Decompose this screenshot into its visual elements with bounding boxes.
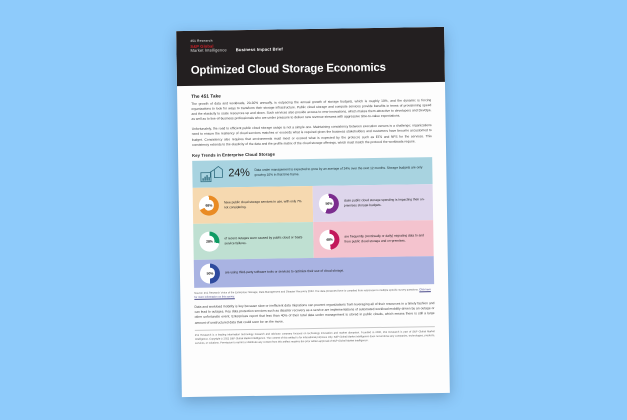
- document-body: The 451 Take The growth of data and work…: [177, 82, 449, 347]
- infographic-row-2: 28% of recent outages were caused by pub…: [193, 220, 434, 260]
- page-title: Optimized Cloud Storage Economics: [191, 61, 431, 77]
- donut-value-50: 50%: [207, 271, 214, 275]
- donut-chart-68: 68%: [199, 195, 219, 215]
- banner-stat-value: 24%: [228, 167, 249, 179]
- infographic: 24% Data under management is expected to…: [192, 157, 434, 288]
- section-heading-key-trends: Key Trends in Enterprise Cloud Storage: [192, 149, 432, 158]
- donut-chart-50: 50%: [200, 263, 220, 283]
- stat-card-public-cloud-in-use: 68% have public cloud storage services i…: [193, 186, 314, 224]
- paragraph-take-2: Unfortunately, the road to efficient pub…: [192, 123, 432, 148]
- stat-text-28: of recent outages were caused by public …: [224, 235, 307, 246]
- stat-card-migration-frequency: 48% are frequently (continually or daily…: [313, 220, 434, 258]
- infographic-row-1: 68% have public cloud storage services i…: [193, 184, 434, 224]
- source-note-text: Source: 451 Research Voice of the Enterp…: [194, 288, 418, 295]
- infographic-row-3: 50% are using third-party software tools…: [194, 256, 434, 288]
- donut-chart-48: 48%: [319, 229, 339, 249]
- paragraph-take-1: The growth of data and workloads, 20-30%…: [191, 98, 431, 123]
- logo-451-research: 451 Research: [190, 39, 226, 43]
- logo-block: 451 Research S&P Global Market Intellige…: [190, 39, 226, 53]
- stat-card-third-party-tools: 50% are using third-party software tools…: [194, 256, 434, 288]
- logo-market-intelligence: Market Intelligence: [190, 48, 226, 53]
- document-masthead: 451 Research S&P Global Market Intellige…: [176, 27, 445, 86]
- legal-footer: 451 Research is a leading information te…: [195, 330, 435, 346]
- donut-value-56: 56%: [325, 201, 332, 205]
- document-page: 451 Research S&P Global Market Intellige…: [176, 27, 450, 397]
- brand-row: 451 Research S&P Global Market Intellige…: [190, 36, 430, 53]
- stat-text-48: are frequently (continually or daily) mi…: [344, 233, 427, 244]
- screenshot-stage: 451 Research S&P Global Market Intellige…: [0, 0, 627, 420]
- stat-text-56: claim public cloud storage spending is i…: [344, 197, 427, 208]
- donut-value-28: 28%: [206, 239, 213, 243]
- donut-value-48: 48%: [326, 237, 333, 241]
- stat-text-68: have public cloud storage services in us…: [224, 199, 307, 210]
- banner-stat-text: Data under management is expected to gro…: [254, 165, 425, 178]
- donut-chart-56: 56%: [319, 193, 339, 213]
- document-type-label: Business Impact Brief: [236, 47, 283, 53]
- donut-chart-28: 28%: [199, 231, 219, 251]
- stat-card-outages: 28% of recent outages were caused by pub…: [193, 221, 314, 259]
- donut-value-68: 68%: [205, 203, 212, 207]
- paragraph-closing: Data and workload mobility is key becaus…: [194, 301, 434, 326]
- building-growth-chart-icon: [199, 164, 223, 183]
- stat-card-spending-impact: 56% claim public cloud storage spending …: [313, 184, 434, 222]
- infographic-banner: 24% Data under management is expected to…: [192, 157, 432, 188]
- stat-text-50: are using third-party software tools or …: [225, 269, 344, 276]
- source-note: Source: 451 Research Voice of the Enterp…: [194, 288, 434, 300]
